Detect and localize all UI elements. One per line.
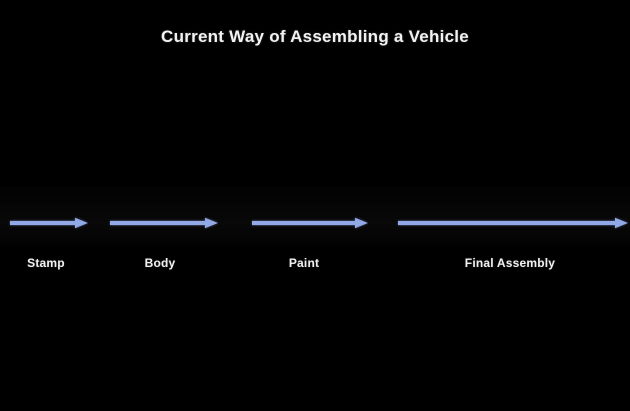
slide-canvas: Current Way of Assembling a Vehicle Stam…	[0, 0, 630, 411]
arrow-right-icon	[10, 216, 88, 230]
arrow-right-icon	[398, 216, 628, 230]
process-arrow	[110, 216, 218, 230]
process-arrow	[10, 216, 88, 230]
arrow-right-icon	[110, 216, 218, 230]
page-title: Current Way of Assembling a Vehicle	[0, 27, 630, 47]
background-band-upper	[0, 186, 630, 200]
process-arrow	[252, 216, 368, 230]
process-arrow	[398, 216, 628, 230]
stage-label: Final Assembly	[0, 256, 630, 270]
arrow-right-icon	[252, 216, 368, 230]
